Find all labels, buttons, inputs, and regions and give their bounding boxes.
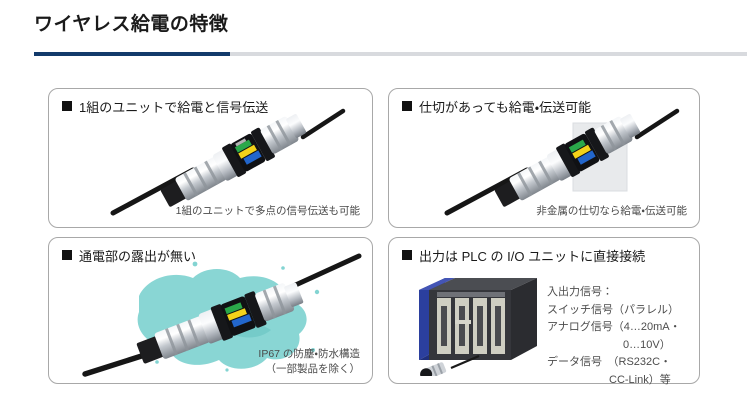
feature-card-grid: 1組のユニットで給電と信号伝送	[48, 88, 700, 384]
spec-line-4: データ信号 （RS232C・	[547, 354, 681, 372]
plc-io-unit-illustration	[411, 272, 551, 376]
wireless-connector-pair-illustration	[107, 107, 347, 217]
card-caption: IP67 の防塵・防水構造 （一部製品を除く）	[258, 347, 360, 377]
square-bullet-icon	[62, 101, 72, 111]
page-header: ワイヤレス給電の特徴	[34, 12, 694, 58]
spec-line-1: スイッチ信号（パラレル）	[547, 302, 681, 320]
spec-line-5: CC-Link）等	[547, 372, 681, 390]
card-title: 出力は PLC の I/O ユニットに直接接続	[402, 248, 645, 266]
feature-card-through-partition: 仕切があっても給電・伝送可能	[388, 88, 700, 228]
square-bullet-icon	[62, 250, 72, 260]
header-divider-accent	[34, 52, 230, 56]
square-bullet-icon	[402, 101, 412, 111]
card-title-text: 出力は PLC の I/O ユニットに直接接続	[419, 249, 645, 264]
card-caption-line-2: （一部製品を除く）	[258, 362, 360, 377]
card-caption: 非金属の仕切なら給電・伝送可能	[536, 204, 687, 219]
feature-card-no-exposed-contacts: 通電部の露出が無い	[48, 237, 373, 384]
card-caption-line-1: IP67 の防塵・防水構造	[258, 347, 360, 362]
header-divider	[34, 52, 747, 56]
spec-line-3: 0…10V）	[547, 337, 681, 355]
wireless-connector-partition-illustration	[441, 107, 681, 217]
square-bullet-icon	[402, 250, 412, 260]
spec-line-2: アナログ信号（4…20mA・	[547, 319, 681, 337]
spec-line-0: 入出力信号：	[547, 284, 681, 302]
plc-signal-spec-list: 入出力信号： スイッチ信号（パラレル） アナログ信号（4…20mA・ 0…10V…	[547, 284, 681, 389]
card-caption: 1組のユニットで多点の信号伝送も可能	[176, 204, 360, 219]
feature-card-plc-direct-connect: 出力は PLC の I/O ユニットに直接接続	[388, 237, 700, 384]
feature-card-power-and-signal: 1組のユニットで給電と信号伝送	[48, 88, 373, 228]
page-title: ワイヤレス給電の特徴	[34, 12, 694, 38]
